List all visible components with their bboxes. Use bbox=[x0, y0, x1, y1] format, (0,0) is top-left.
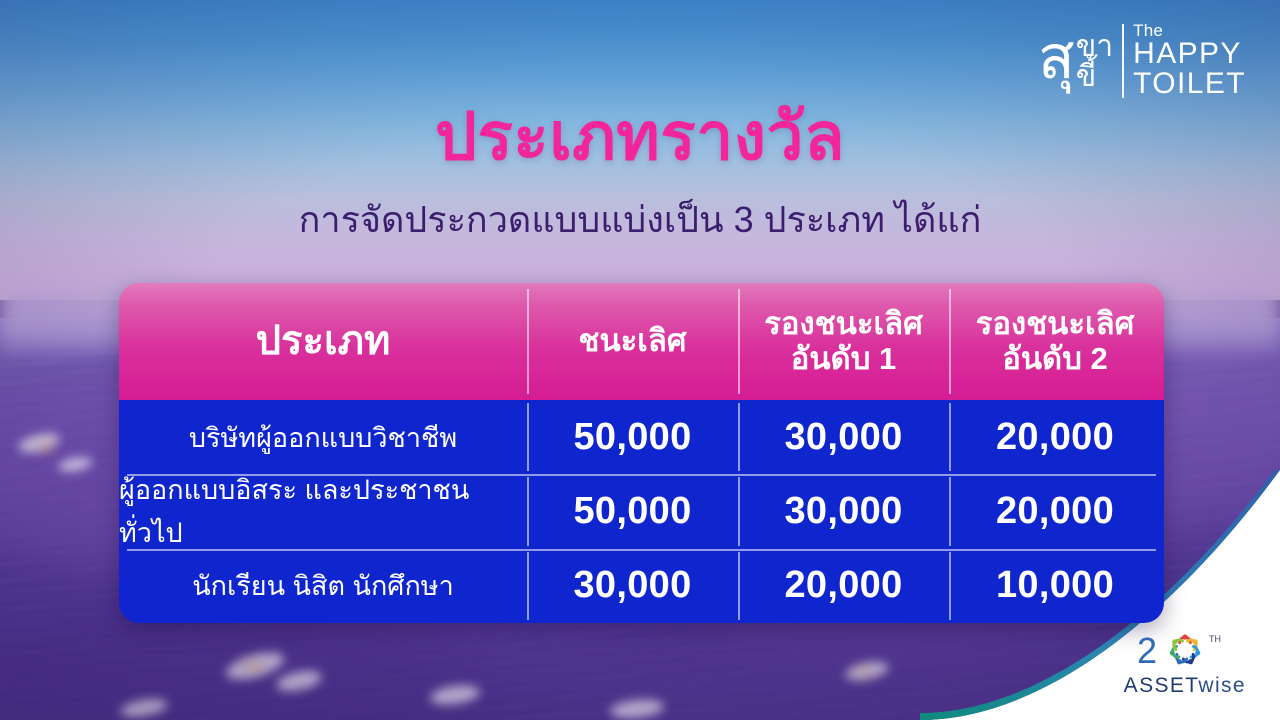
logo-thai-bottom: ขี้ bbox=[1076, 62, 1113, 92]
cell-second-prize: 20,000 bbox=[738, 549, 949, 623]
happy-toilet-logo: สุ ขา ขี้ The HAPPY TOILET bbox=[1038, 22, 1246, 99]
cell-third-prize: 10,000 bbox=[949, 549, 1161, 623]
cell-second-prize: 30,000 bbox=[738, 400, 949, 474]
cell-first-prize: 50,000 bbox=[527, 474, 738, 548]
cell-first-prize: 50,000 bbox=[527, 400, 738, 474]
anniversary-digit-two: 2 bbox=[1137, 630, 1157, 670]
column-header-third-prize: รองชนะเลิศ อันดับ 2 bbox=[949, 283, 1161, 400]
cell-third-prize: 20,000 bbox=[949, 474, 1161, 548]
logo-thai-group: สุ ขา ขี้ bbox=[1038, 29, 1113, 92]
logo-thai-top: ขา bbox=[1076, 32, 1113, 62]
anniversary-people-circle bbox=[1168, 634, 1201, 666]
cell-category: บริษัทผู้ออกแบบวิชาชีพ bbox=[119, 400, 527, 474]
table-header-row: ประเภท ชนะเลิศ รองชนะเลิศ อันดับ 1 รองชน… bbox=[119, 283, 1164, 400]
page-subtitle: การจัดประกวดแบบแบ่งเป็น 3 ประเภท ได้แก่ bbox=[0, 198, 1280, 241]
assetwise-20th-anniversary-icon: 2 TH bbox=[1137, 630, 1233, 670]
page-title: ประเภทรางวัล bbox=[0, 103, 1280, 169]
logo-english-group: The HAPPY TOILET bbox=[1133, 22, 1246, 99]
cell-first-prize: 30,000 bbox=[527, 549, 738, 623]
cell-second-prize: 30,000 bbox=[738, 474, 949, 548]
anniversary-suffix-th: TH bbox=[1209, 634, 1221, 644]
prize-table: ประเภท ชนะเลิศ รองชนะเลิศ อันดับ 1 รองชน… bbox=[119, 283, 1164, 623]
column-header-second-prize-line1: รองชนะเลิศ bbox=[764, 307, 923, 342]
logo-toilet-label: TOILET bbox=[1133, 69, 1246, 99]
wordmark-wise: wise bbox=[1198, 674, 1246, 697]
cell-third-prize: 20,000 bbox=[949, 400, 1161, 474]
column-header-third-prize-line1: รองชนะเลิศ bbox=[976, 307, 1135, 342]
wordmark-asset: ASSET bbox=[1124, 674, 1199, 697]
table-row: ผู้ออกแบบอิสระ และประชาชนทั่วไป 50,000 3… bbox=[119, 474, 1164, 548]
logo-divider bbox=[1122, 24, 1124, 98]
logo-happy-label: HAPPY bbox=[1133, 39, 1246, 69]
logo-thai-main: สุ bbox=[1038, 29, 1074, 86]
column-header-category: ประเภท bbox=[119, 283, 527, 400]
assetwise-wordmark: ASSETwise bbox=[1124, 674, 1246, 698]
logo-thai-stack: ขา ขี้ bbox=[1076, 29, 1113, 92]
cell-category: ผู้ออกแบบอิสระ และประชาชนทั่วไป bbox=[119, 474, 527, 548]
table-row: บริษัทผู้ออกแบบวิชาชีพ 50,000 30,000 20,… bbox=[119, 400, 1164, 474]
column-header-first-prize: ชนะเลิศ bbox=[527, 283, 738, 400]
table-row: นักเรียน นิสิต นักศึกษา 30,000 20,000 10… bbox=[119, 549, 1164, 623]
cell-category: นักเรียน นิสิต นักศึกษา bbox=[119, 549, 527, 623]
column-header-second-prize: รองชนะเลิศ อันดับ 1 bbox=[738, 283, 949, 400]
assetwise-logo: 2 TH ASSETwise bbox=[1124, 630, 1246, 698]
table-body: บริษัทผู้ออกแบบวิชาชีพ 50,000 30,000 20,… bbox=[119, 400, 1164, 623]
column-header-second-prize-line2: อันดับ 1 bbox=[764, 342, 923, 377]
column-header-third-prize-line2: อันดับ 2 bbox=[976, 342, 1135, 377]
